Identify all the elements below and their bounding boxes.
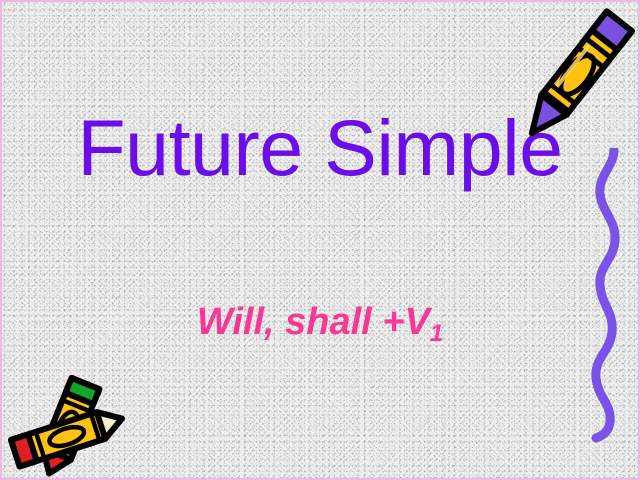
page-title: Future Simple [77,108,562,187]
subtitle-main-text: Will, shall +V [197,301,430,343]
squiggle-line-icon [570,148,640,453]
crossed-crayons-icon [6,372,146,480]
slide-subtitle: Will, shall +V1 [197,303,443,346]
subtitle-subscript: 1 [430,320,443,347]
presentation-slide: Future Simple Will, shall +V1 [0,0,640,480]
subtitle-block: Will, shall +V1 [0,303,640,346]
